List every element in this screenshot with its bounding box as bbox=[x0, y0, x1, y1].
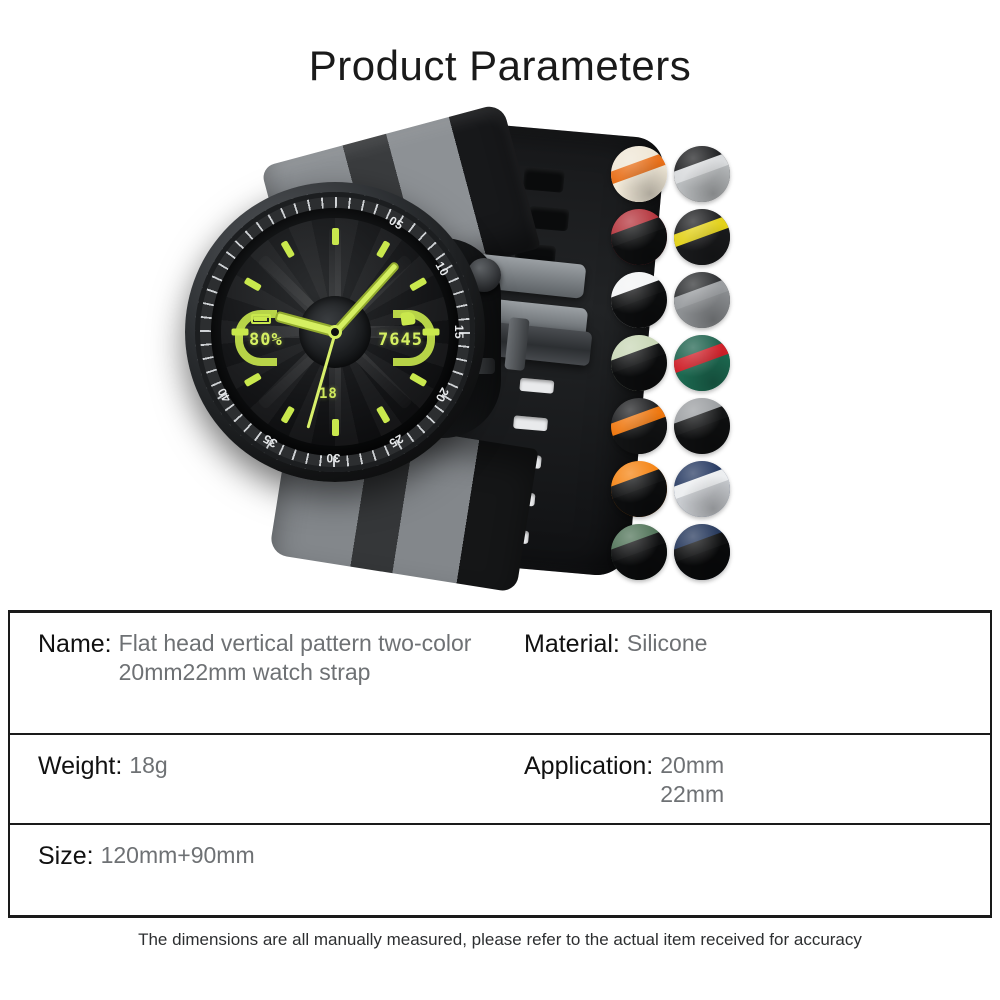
measurement-disclaimer: The dimensions are all manually measured… bbox=[0, 930, 1000, 950]
spec-value-size-line1: 120mm+90mm bbox=[101, 841, 255, 870]
strap-vent-slot bbox=[523, 167, 565, 192]
spec-value-material-line1: Silicone bbox=[627, 629, 708, 658]
spec-value-material: Silicone bbox=[627, 629, 708, 658]
color-swatch-green-red[interactable] bbox=[674, 335, 730, 391]
swatch-gloss bbox=[674, 146, 730, 202]
color-swatch-navy-white[interactable] bbox=[674, 461, 730, 517]
spec-row: Name: Flat head vertical pattern two-col… bbox=[10, 613, 990, 735]
spec-value-application-line2: 22mm bbox=[660, 780, 724, 809]
color-swatch-orange-black2[interactable] bbox=[611, 398, 667, 454]
swatch-gloss bbox=[674, 335, 730, 391]
spec-label-size: Size: bbox=[38, 841, 94, 871]
spec-value-weight: 18g bbox=[129, 751, 167, 780]
watch-battery-readout: 80% bbox=[249, 330, 283, 350]
swatch-gloss bbox=[611, 335, 667, 391]
color-swatch-white-black[interactable] bbox=[611, 272, 667, 328]
swatch-gloss bbox=[611, 461, 667, 517]
swatch-gloss bbox=[674, 398, 730, 454]
swatch-gloss bbox=[674, 272, 730, 328]
spec-label-weight: Weight: bbox=[38, 751, 122, 781]
product-parameters-page: Product Parameters bbox=[0, 0, 1000, 1000]
color-swatch-orange-cream[interactable] bbox=[611, 146, 667, 202]
spec-cell-name: Name: Flat head vertical pattern two-col… bbox=[10, 613, 500, 733]
hero-section: 80% 7645 18 0510152025303540 bbox=[0, 120, 1000, 590]
watch-date-readout: 18 bbox=[319, 386, 338, 402]
color-swatch-red-black[interactable] bbox=[611, 209, 667, 265]
color-swatch-gray-black[interactable] bbox=[674, 272, 730, 328]
spec-cell-size: Size: 120mm+90mm bbox=[10, 825, 500, 915]
spec-label-name: Name: bbox=[38, 629, 112, 659]
color-swatch-navy-black[interactable] bbox=[674, 524, 730, 580]
page-title: Product Parameters bbox=[0, 42, 1000, 90]
spec-value-name: Flat head vertical pattern two-color 20m… bbox=[119, 629, 472, 688]
spec-value-application: 20mm 22mm bbox=[660, 751, 724, 810]
spec-cell-material: Material: Silicone bbox=[500, 613, 990, 733]
bezel-number: 15 bbox=[452, 325, 466, 339]
spec-value-name-line1: Flat head vertical pattern two-color bbox=[119, 629, 472, 658]
spec-cell-empty bbox=[500, 825, 990, 915]
hand-cap bbox=[328, 325, 342, 339]
swatch-gloss bbox=[674, 209, 730, 265]
color-swatch-sage-black[interactable] bbox=[611, 335, 667, 391]
strap-hole bbox=[519, 378, 554, 394]
watch-steps-readout: 7645 bbox=[378, 330, 423, 350]
swatch-gloss bbox=[611, 398, 667, 454]
swatch-gloss bbox=[674, 461, 730, 517]
color-swatch-orange-black3[interactable] bbox=[611, 461, 667, 517]
swatch-gloss bbox=[611, 524, 667, 580]
color-swatch-gray-black2[interactable] bbox=[674, 398, 730, 454]
spec-value-size: 120mm+90mm bbox=[101, 841, 255, 870]
spec-table: Name: Flat head vertical pattern two-col… bbox=[8, 610, 992, 918]
color-swatch-silver-black[interactable] bbox=[674, 146, 730, 202]
swatch-gloss bbox=[611, 209, 667, 265]
battery-icon bbox=[251, 314, 271, 324]
spec-value-name-line2: 20mm22mm watch strap bbox=[119, 658, 472, 687]
color-swatch-green-black[interactable] bbox=[611, 524, 667, 580]
spec-label-application: Application: bbox=[524, 751, 653, 781]
watch-dial: 80% 7645 18 bbox=[221, 218, 449, 446]
swatch-gloss bbox=[674, 524, 730, 580]
bezel-number: 30 bbox=[326, 451, 340, 465]
spec-row: Size: 120mm+90mm bbox=[10, 825, 990, 915]
color-swatch-grid[interactable] bbox=[611, 146, 741, 580]
swatch-gloss bbox=[611, 272, 667, 328]
spec-label-material: Material: bbox=[524, 629, 620, 659]
spec-cell-weight: Weight: 18g bbox=[10, 735, 500, 823]
spec-row: Weight: 18g Application: 20mm 22mm bbox=[10, 735, 990, 825]
spec-value-application-line1: 20mm bbox=[660, 751, 724, 780]
spec-value-weight-line1: 18g bbox=[129, 751, 167, 780]
swatch-gloss bbox=[611, 146, 667, 202]
color-swatch-yellow-black[interactable] bbox=[674, 209, 730, 265]
spec-cell-application: Application: 20mm 22mm bbox=[500, 735, 990, 823]
product-photo-watch: 80% 7645 18 0510152025303540 bbox=[185, 130, 605, 560]
strap-hole bbox=[513, 415, 548, 431]
